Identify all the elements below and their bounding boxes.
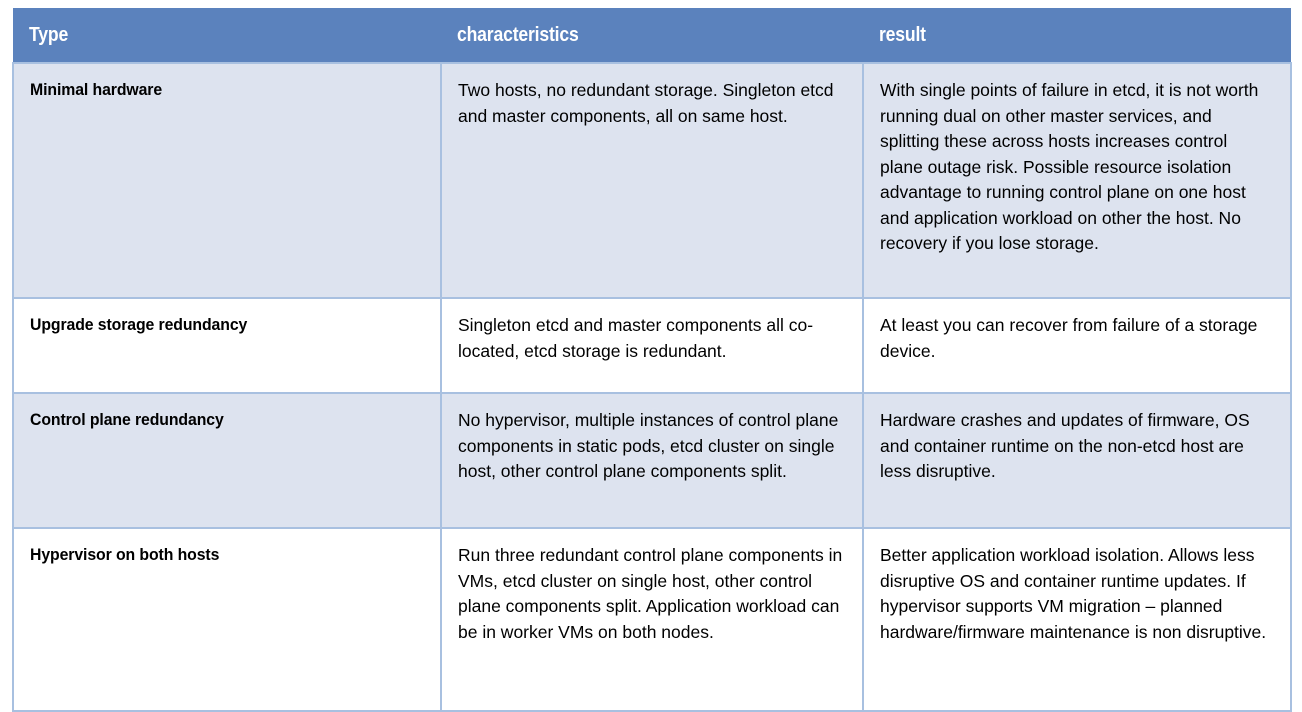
row-result-text: Better application workload isolation. A…	[880, 543, 1274, 645]
row-type-label: Upgrade storage redundancy	[30, 313, 247, 337]
header-row: Type characteristics result	[13, 8, 1291, 63]
row-type-label: Minimal hardware	[30, 78, 162, 102]
cell-type: Minimal hardware	[13, 63, 441, 298]
page-root: Type characteristics result Minimal hard…	[0, 0, 1302, 708]
row-result-text: At least you can recover from failure of…	[880, 313, 1274, 364]
cell-characteristics: Two hosts, no redundant storage. Singlet…	[441, 63, 863, 298]
row-result-text: Hardware crashes and updates of firmware…	[880, 408, 1274, 485]
column-header-type-label: Type	[29, 23, 68, 47]
table-header: Type characteristics result	[13, 8, 1291, 63]
cell-result: With single points of failure in etcd, i…	[863, 63, 1291, 298]
row-characteristics-text: Run three redundant control plane compon…	[458, 543, 846, 645]
row-result-text: With single points of failure in etcd, i…	[880, 78, 1274, 257]
column-header-result-label: result	[879, 23, 926, 47]
cell-type: Upgrade storage redundancy	[13, 298, 441, 393]
column-header-result: result	[863, 8, 1291, 63]
cell-result: Hardware crashes and updates of firmware…	[863, 393, 1291, 528]
table-row: Minimal hardware Two hosts, no redundant…	[13, 63, 1291, 298]
cell-type: Control plane redundancy	[13, 393, 441, 528]
cell-characteristics: No hypervisor, multiple instances of con…	[441, 393, 863, 528]
column-header-characteristics-label: characteristics	[457, 23, 579, 47]
cell-characteristics: Run three redundant control plane compon…	[441, 528, 863, 711]
table-container: Type characteristics result Minimal hard…	[12, 8, 1290, 712]
cell-result: Better application workload isolation. A…	[863, 528, 1291, 711]
column-header-characteristics: characteristics	[441, 8, 863, 63]
column-header-type: Type	[13, 8, 441, 63]
table-row: Hypervisor on both hosts Run three redun…	[13, 528, 1291, 711]
cell-characteristics: Singleton etcd and master components all…	[441, 298, 863, 393]
table-body: Minimal hardware Two hosts, no redundant…	[13, 63, 1291, 711]
cell-type: Hypervisor on both hosts	[13, 528, 441, 711]
row-characteristics-text: Singleton etcd and master components all…	[458, 313, 846, 364]
topology-comparison-table: Type characteristics result Minimal hard…	[12, 8, 1292, 712]
table-row: Control plane redundancy No hypervisor, …	[13, 393, 1291, 528]
row-type-label: Hypervisor on both hosts	[30, 543, 219, 567]
table-row: Upgrade storage redundancy Singleton etc…	[13, 298, 1291, 393]
row-characteristics-text: Two hosts, no redundant storage. Singlet…	[458, 78, 846, 129]
row-characteristics-text: No hypervisor, multiple instances of con…	[458, 408, 846, 485]
row-type-label: Control plane redundancy	[30, 408, 224, 432]
cell-result: At least you can recover from failure of…	[863, 298, 1291, 393]
